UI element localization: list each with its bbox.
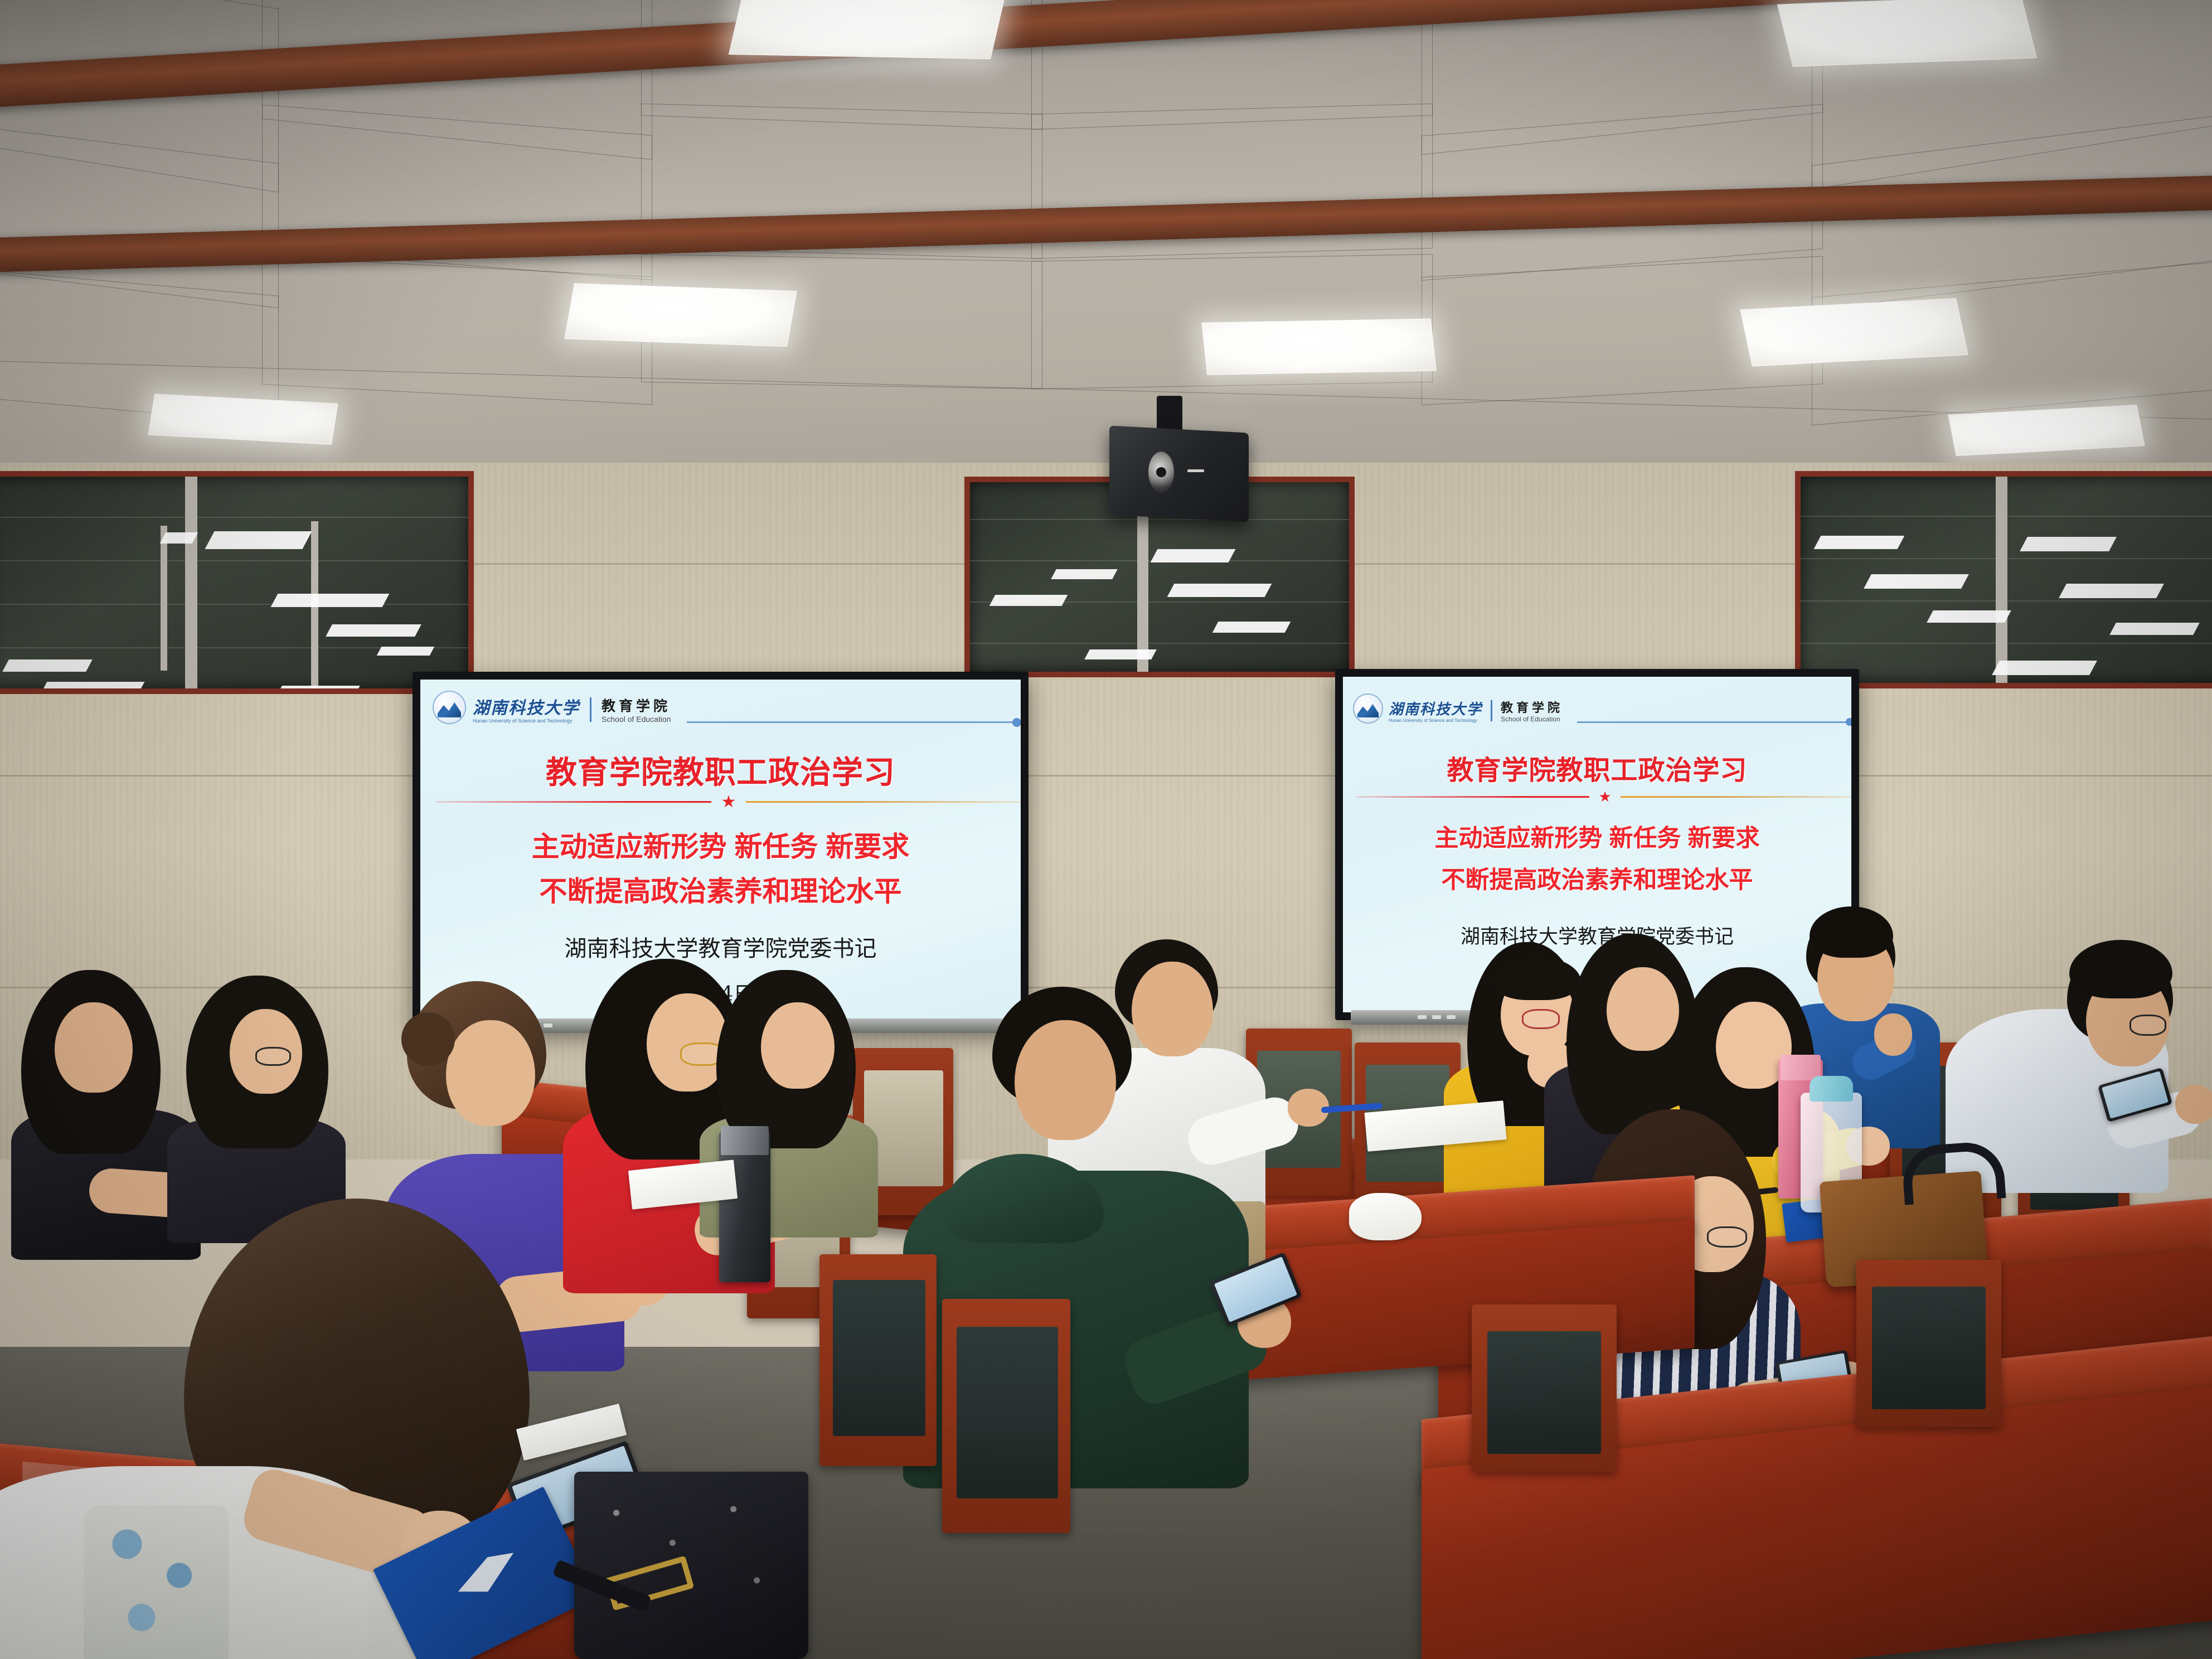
slide-header-left: 湖南科技大学 Hunan University of Science and T… bbox=[433, 691, 671, 724]
glasses-icon bbox=[1707, 1226, 1747, 1248]
notebook-swoosh-icon bbox=[450, 1546, 524, 1603]
tray-button[interactable] bbox=[1418, 1015, 1427, 1019]
wall-seam bbox=[0, 775, 2212, 777]
department-name-en: School of Education bbox=[1501, 715, 1563, 724]
slide-title: 教育学院教职工政治学习 bbox=[420, 748, 1021, 793]
department-name-zh: 教育学院 bbox=[1501, 701, 1563, 715]
glasses-icon bbox=[2129, 1015, 2166, 1036]
ceiling-speaker bbox=[1109, 425, 1249, 522]
suspended-ceiling bbox=[0, 0, 2212, 491]
hand bbox=[1874, 1013, 1912, 1056]
window-left bbox=[0, 471, 474, 694]
slide-line-1: 主动适应新形势 新任务 新要求 bbox=[420, 824, 1021, 865]
slide-divider: ★ bbox=[436, 794, 1021, 809]
header-rule-end-dot bbox=[1846, 718, 1851, 726]
divider-line-right bbox=[746, 801, 1021, 803]
thermos-dark[interactable] bbox=[719, 1132, 770, 1282]
divider-line-right bbox=[1621, 796, 1851, 798]
meeting-room-photo: 湖南科技大学 Hunan University of Science and T… bbox=[0, 0, 2212, 1659]
thermos-cap[interactable] bbox=[721, 1126, 769, 1155]
logo-divider bbox=[1491, 700, 1492, 721]
department-name-zh: 教育学院 bbox=[601, 698, 671, 715]
slide-line-2: 不断提高政治素养和理论水平 bbox=[1343, 861, 1851, 895]
department-name-en: School of Education bbox=[601, 715, 671, 724]
ceiling-light bbox=[729, 0, 1006, 59]
head bbox=[55, 1002, 133, 1093]
university-emblem-icon bbox=[1353, 693, 1383, 724]
jacket-hood bbox=[942, 1154, 1104, 1243]
black-handbag[interactable] bbox=[574, 1472, 808, 1659]
glasses-icon bbox=[255, 1047, 291, 1066]
slide-header-right: 湖南科技大学 Hunan University of Science and T… bbox=[1353, 693, 1563, 724]
header-rule-end-dot bbox=[1012, 718, 1021, 727]
logo-divider bbox=[590, 697, 591, 722]
chair-pad bbox=[1487, 1331, 1601, 1454]
slide-line-1: 主动适应新形势 新任务 新要求 bbox=[1343, 819, 1851, 853]
head bbox=[446, 1020, 535, 1126]
red-star-icon: ★ bbox=[721, 792, 736, 812]
slide-byline: 湖南科技大学教育学院党委书记 bbox=[420, 930, 1021, 963]
head bbox=[1015, 1020, 1116, 1140]
slide-line-2: 不断提高政治素养和理论水平 bbox=[420, 869, 1021, 909]
chair-pad bbox=[1872, 1287, 1986, 1409]
chair-pad bbox=[957, 1327, 1058, 1498]
slide-title: 教育学院教职工政治学习 bbox=[1343, 748, 1851, 787]
university-name-en: Hunan University of Science and Technolo… bbox=[473, 717, 580, 724]
ceiling-light bbox=[1740, 298, 1968, 367]
red-star-icon: ★ bbox=[1598, 788, 1611, 806]
hair-top bbox=[2069, 940, 2172, 998]
floral-scarf bbox=[84, 1505, 229, 1659]
university-name-zh: 湖南科技大学 bbox=[1389, 702, 1482, 717]
slide-divider: ★ bbox=[1356, 789, 1851, 804]
ceiling-light bbox=[564, 283, 797, 347]
university-emblem-icon bbox=[433, 691, 466, 724]
hair-bun bbox=[401, 1012, 455, 1066]
chair-pad bbox=[833, 1280, 925, 1436]
header-rule bbox=[1577, 721, 1850, 723]
ceiling-light bbox=[1777, 0, 2037, 67]
hair-top bbox=[1810, 906, 1893, 958]
header-rule bbox=[687, 721, 1017, 723]
divider-line-left bbox=[436, 801, 711, 803]
divider-line-left bbox=[1356, 796, 1589, 798]
speaker-port-slot bbox=[1187, 469, 1204, 472]
university-name-zh: 湖南科技大学 bbox=[473, 700, 580, 717]
hand bbox=[2175, 1085, 2212, 1124]
university-name-en: Hunan University of Science and Technolo… bbox=[1389, 717, 1482, 724]
tissue-crumple bbox=[1349, 1193, 1422, 1240]
head bbox=[761, 1002, 835, 1089]
ceiling-light bbox=[1201, 318, 1436, 375]
speaker-center-dot bbox=[1156, 467, 1166, 477]
window-right bbox=[1795, 471, 2212, 688]
bottle-cap[interactable] bbox=[1810, 1076, 1853, 1102]
